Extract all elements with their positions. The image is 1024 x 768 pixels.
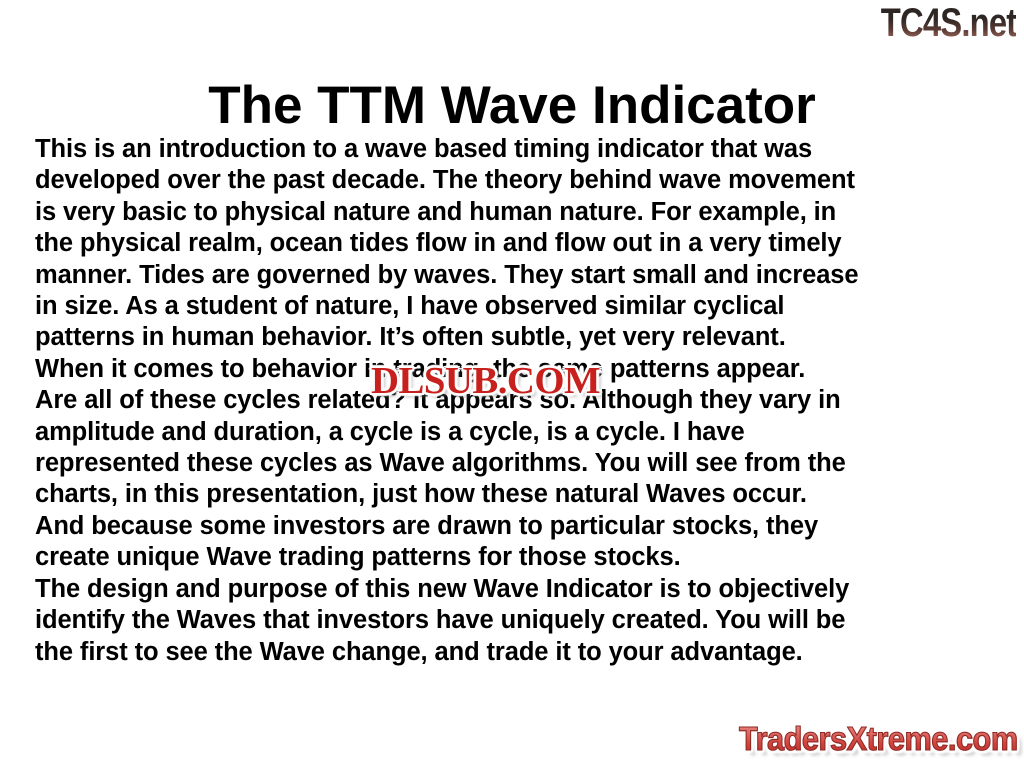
body-line: create unique Wave trading patterns for … bbox=[35, 542, 993, 573]
body-line: identify the Waves that investors have u… bbox=[35, 605, 993, 636]
body-line: And because some investors are drawn to … bbox=[35, 511, 993, 542]
body-line: patterns in human behavior. It’s often s… bbox=[35, 322, 993, 353]
body-line: the physical realm, ocean tides flow in … bbox=[35, 228, 993, 259]
footer-logo-fill-layer: TradersXtreme.com bbox=[739, 720, 1018, 757]
body-line: represented these cycles as Wave algorit… bbox=[35, 448, 993, 479]
body-line: developed over the past decade. The theo… bbox=[35, 165, 993, 196]
body-line: The design and purpose of this new Wave … bbox=[35, 574, 993, 605]
body-line: charts, in this presentation, just how t… bbox=[35, 479, 993, 510]
footer-logo-tradersxtreme: TradersXtreme.com TradersXtreme.com bbox=[739, 722, 1018, 756]
watermark-dlsub: DLSUB.COM bbox=[371, 362, 600, 400]
body-line: This is an introduction to a wave based … bbox=[35, 134, 993, 165]
body-line: the first to see the Wave change, and tr… bbox=[35, 637, 993, 668]
page-title: The TTM Wave Indicator bbox=[0, 77, 1024, 135]
brand-logo-tc4s: TC4S.net bbox=[880, 4, 1016, 42]
body-line: is very basic to physical nature and hum… bbox=[35, 197, 993, 228]
body-line: manner. Tides are governed by waves. The… bbox=[35, 260, 993, 291]
body-line: amplitude and duration, a cycle is a cyc… bbox=[35, 417, 993, 448]
body-line: in size. As a student of nature, I have … bbox=[35, 291, 993, 322]
